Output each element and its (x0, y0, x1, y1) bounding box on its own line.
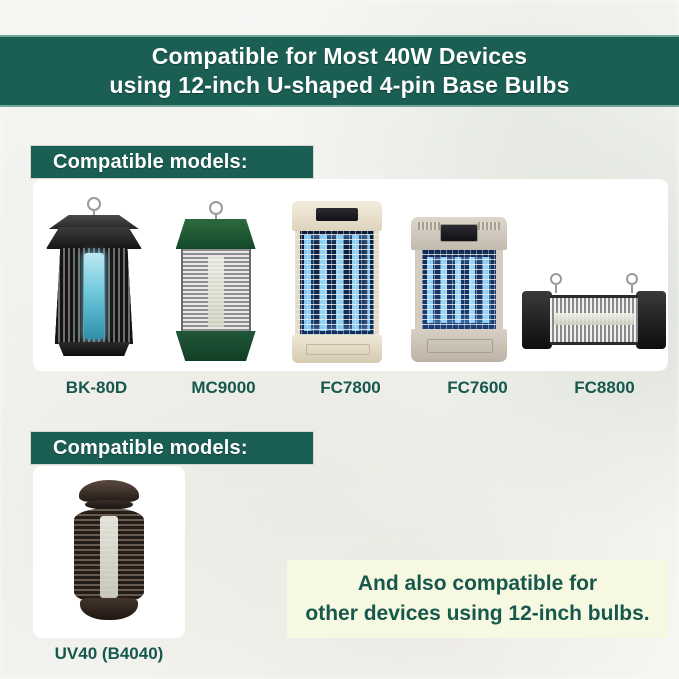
callout-line-2: other devices using 12-inch bulbs. (305, 599, 649, 629)
product-label-fc7800: FC7800 (287, 378, 414, 402)
bug-zapper-cream-tower-icon (290, 199, 384, 365)
bug-zapper-taupe-unit-icon (411, 215, 507, 365)
product-cell-mc9000 (155, 179, 277, 371)
product-cell-fc7800 (277, 179, 399, 371)
header-banner: Compatible for Most 40W Devices using 12… (0, 35, 679, 107)
product-card-row-2 (33, 466, 185, 638)
product-label-uv40: UV40 (B4040) (33, 644, 185, 664)
product-cell-fc8800 (520, 179, 668, 371)
bug-zapper-lantern-black-icon (46, 195, 142, 365)
product-cell-fc7600 (398, 179, 520, 371)
product-label-fc7600: FC7600 (414, 378, 541, 402)
compatible-models-tag-1: Compatible models: (30, 145, 314, 179)
callout-line-1: And also compatible for (358, 569, 597, 599)
compatibility-callout: And also compatible for other devices us… (287, 560, 668, 638)
infographic-page: Compatible for Most 40W Devices using 12… (0, 0, 679, 679)
product-cell-bk80d (33, 179, 155, 371)
product-label-fc8800: FC8800 (541, 378, 668, 402)
product-images-row-1 (33, 179, 668, 371)
product-label-mc9000: MC9000 (160, 378, 287, 402)
product-labels-row-1: BK-80D MC9000 FC7800 FC7600 FC8800 (33, 378, 668, 402)
bug-zapper-green-chrome-icon (174, 195, 258, 365)
banner-line-1: Compatible for Most 40W Devices (152, 42, 528, 71)
banner-line-2: using 12-inch U-shaped 4-pin Base Bulbs (109, 71, 569, 100)
compatible-models-tag-2: Compatible models: (30, 431, 314, 465)
product-label-bk80d: BK-80D (33, 378, 160, 402)
bug-zapper-horizontal-wall-icon (520, 269, 668, 365)
bug-zapper-cylinder-dark-icon (66, 478, 152, 628)
